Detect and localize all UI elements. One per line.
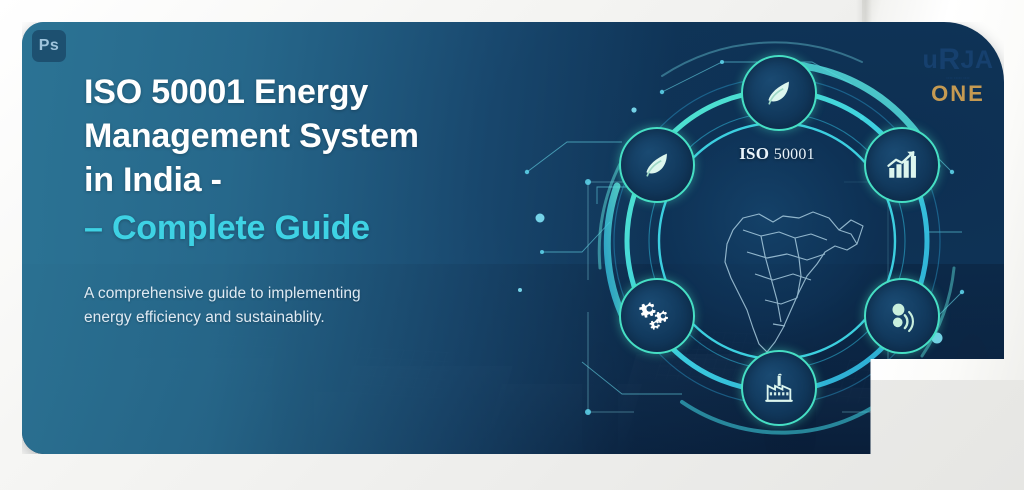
headline-line-2: Management System	[84, 117, 419, 155]
iso-label: ISO	[739, 144, 769, 163]
headline-line-1: ISO 50001 Energy	[84, 73, 368, 111]
hero-artboard: Ps ISO 50001 Energy Management System in…	[22, 22, 1004, 454]
headline-line-3: in India -	[84, 161, 222, 199]
factory-icon	[762, 371, 796, 405]
logo-sub-wordmark: ONE	[906, 83, 1010, 105]
subtitle-line-1: A comprehensive guide to implementing	[84, 285, 361, 302]
leaf-icon	[640, 148, 674, 182]
node-leaf-upper-left[interactable]	[619, 127, 695, 203]
node-chart-upper-right[interactable]	[864, 127, 940, 203]
node-meter-lower-right[interactable]	[864, 278, 940, 354]
logo-r: R	[938, 43, 960, 76]
page-canvas: Ps ISO 50001 Energy Management System in…	[0, 0, 1024, 490]
headline-accent: – Complete Guide	[84, 206, 554, 250]
logo-wordmark: uRJA	[906, 44, 1010, 74]
subtitle-line-2: energy efficiency and sustainablity.	[84, 309, 325, 326]
leaf-icon	[762, 76, 796, 110]
logo-ja: JA	[960, 46, 993, 74]
node-factory-bottom[interactable]	[741, 350, 817, 426]
smart-meter-icon	[885, 299, 919, 333]
iso-number: 50001	[774, 146, 815, 163]
bar-chart-growth-icon	[884, 147, 920, 183]
brand-logo[interactable]: uRJA •••• ••••• •••• ONE	[906, 44, 1010, 105]
gears-icon	[639, 298, 675, 334]
node-leaf-top[interactable]	[741, 55, 817, 131]
hero-subtitle: A comprehensive guide to implementing en…	[84, 282, 554, 330]
page-title: ISO 50001 Energy Management System in In…	[84, 70, 554, 250]
logo-u: u	[923, 46, 939, 74]
hero-copy-block: ISO 50001 Energy Management System in In…	[84, 70, 554, 330]
logo-tagline: •••• ••••• ••••	[906, 76, 1010, 80]
photoshop-icon: Ps	[32, 30, 66, 62]
node-gears-lower-left[interactable]	[619, 278, 695, 354]
